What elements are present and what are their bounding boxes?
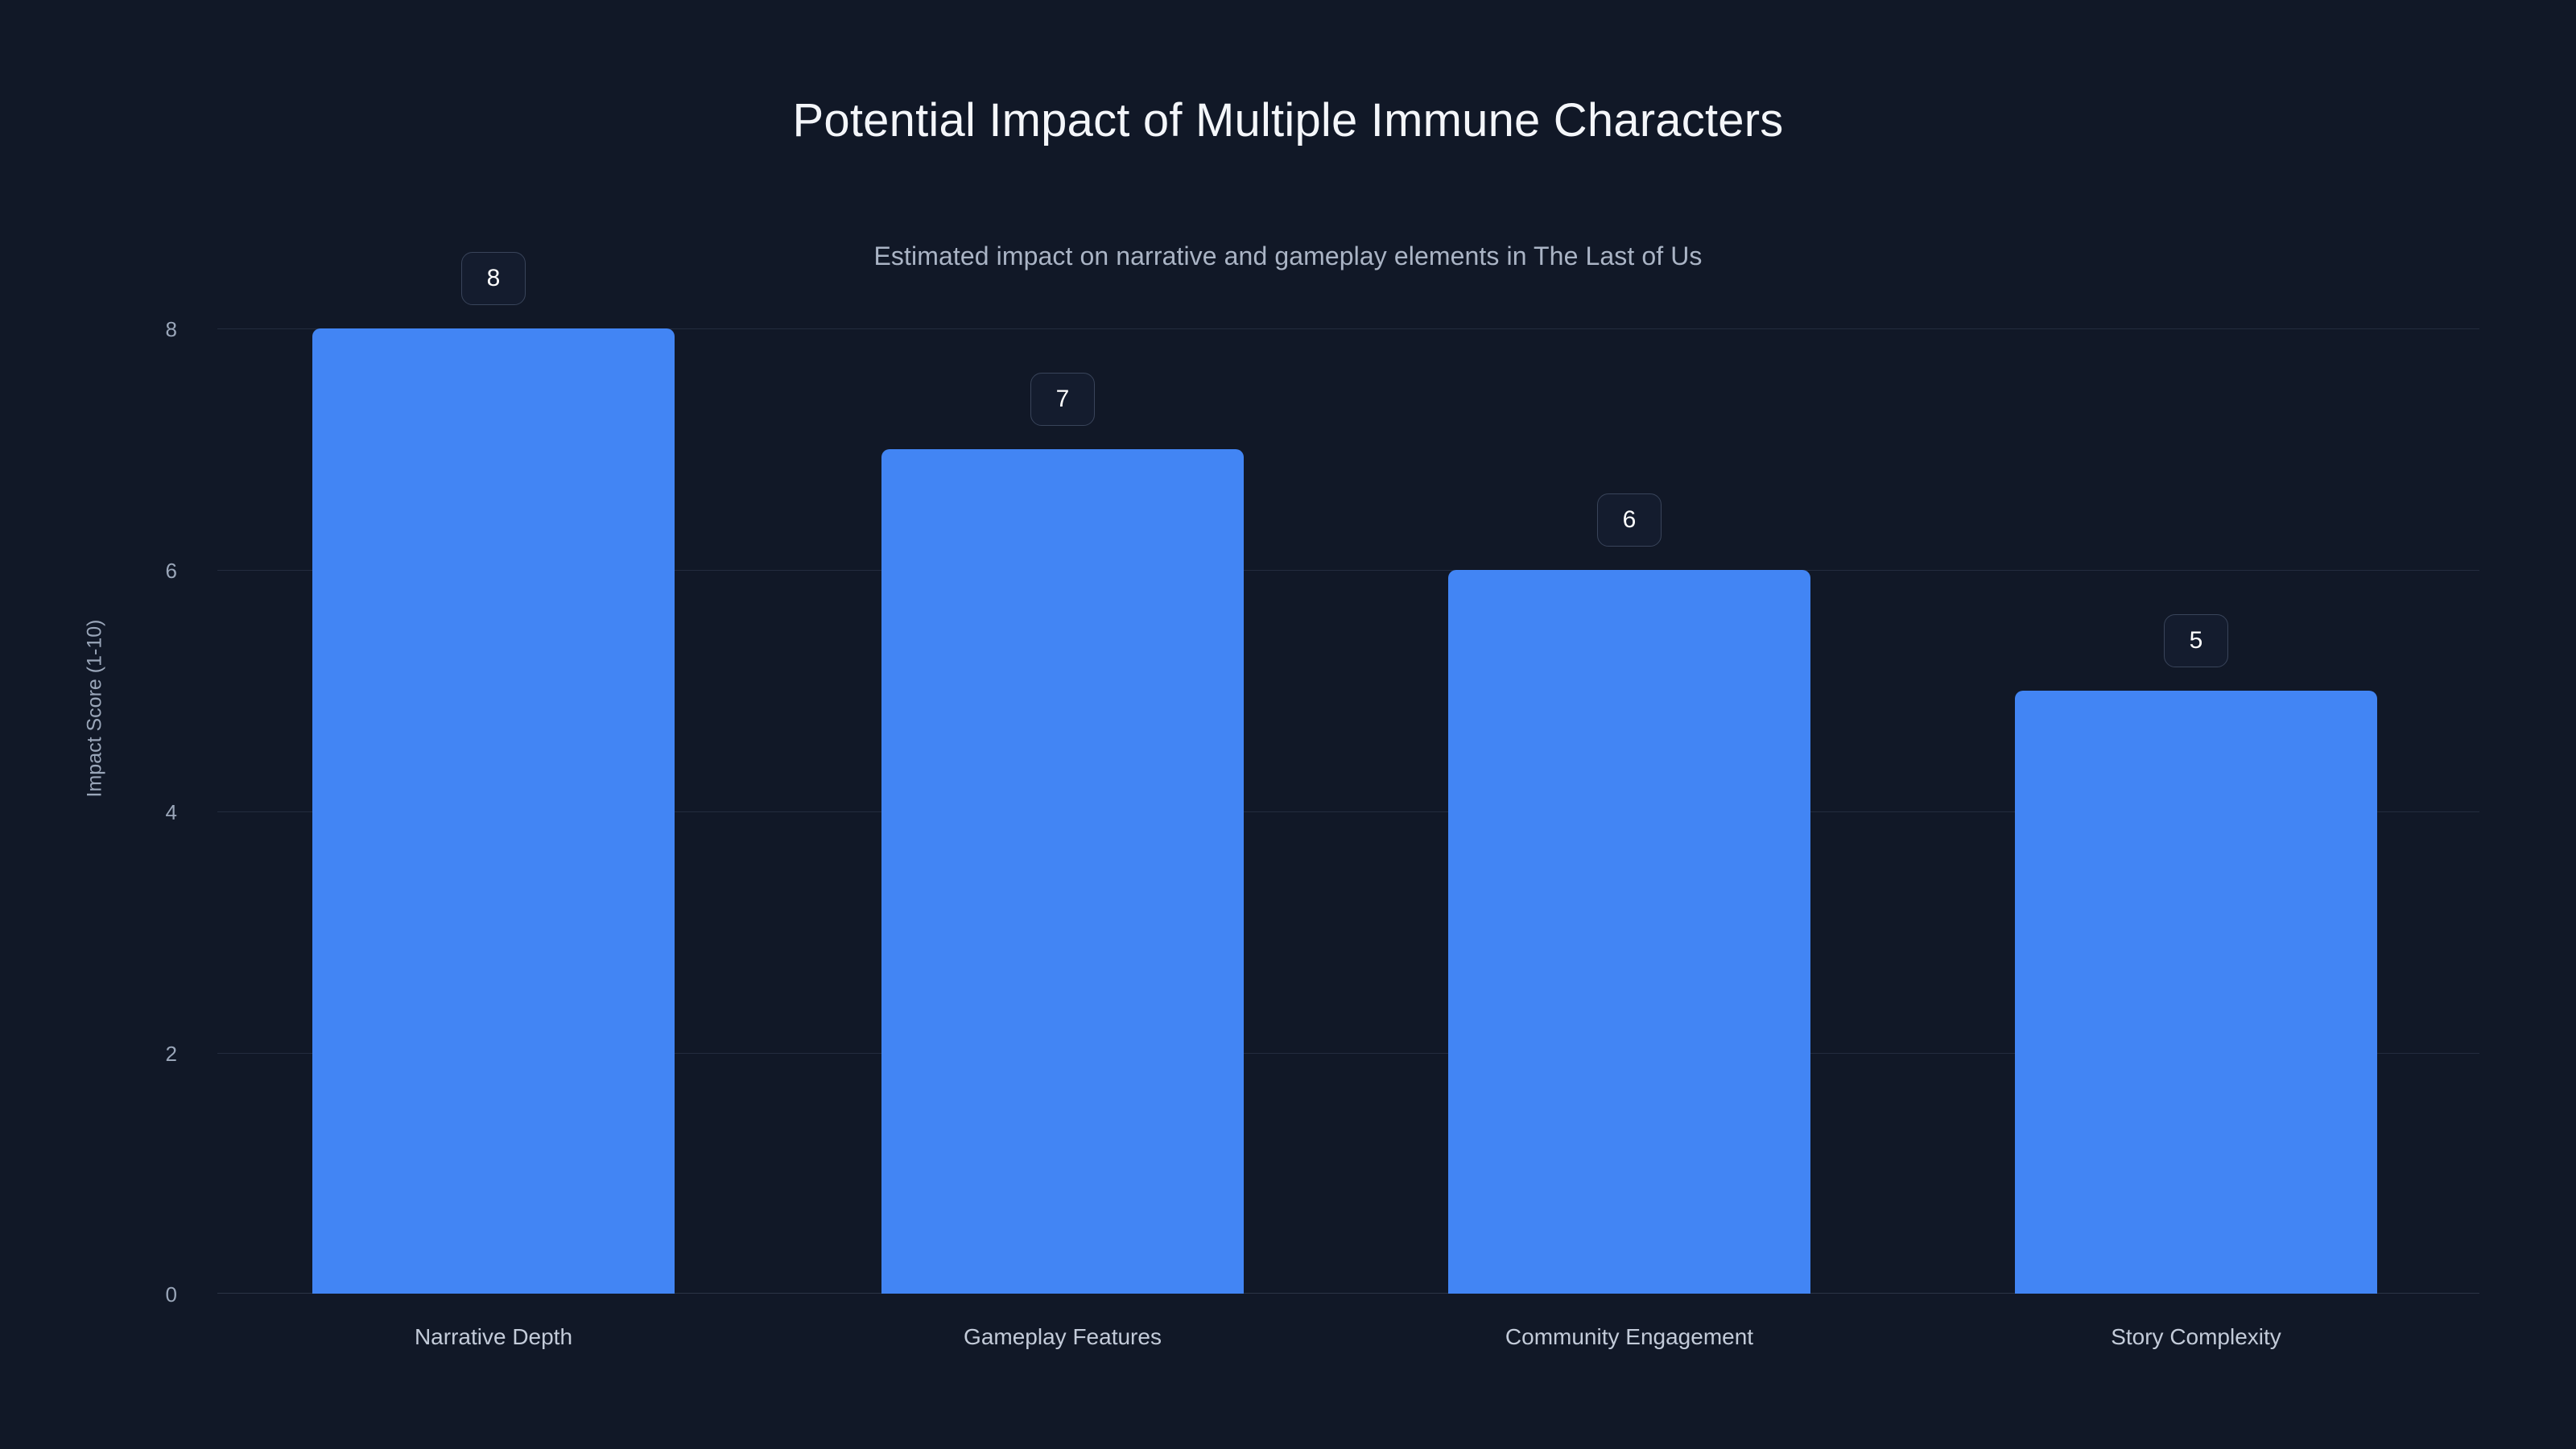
chart-subtitle: Estimated impact on narrative and gamepl… [0, 242, 2576, 271]
value-badge-text: 5 [2190, 627, 2203, 654]
value-badge-text: 7 [1056, 386, 1070, 413]
y-tick-label-4: 4 [129, 800, 177, 825]
value-badge-narrative-depth: 8 [461, 252, 526, 305]
x-tick-label-narrative-depth: Narrative Depth [415, 1324, 572, 1350]
x-tick-label-community-engagement: Community Engagement [1505, 1324, 1753, 1350]
value-badge-text: 6 [1623, 506, 1637, 534]
gridline-2 [217, 1053, 2479, 1054]
value-badge-story-complexity: 5 [2164, 614, 2228, 667]
y-tick-label-0: 0 [129, 1282, 177, 1307]
gridline-4 [217, 811, 2479, 812]
gridline-0 [217, 1293, 2479, 1294]
value-badge-community-engagement: 6 [1597, 493, 1662, 547]
x-tick-label-story-complexity: Story Complexity [2111, 1324, 2281, 1350]
plot-area [217, 328, 2479, 1294]
x-tick-label-gameplay-features: Gameplay Features [964, 1324, 1162, 1350]
value-badge-gameplay-features: 7 [1030, 373, 1095, 426]
gridline-8 [217, 328, 2479, 329]
chart-title: Potential Impact of Multiple Immune Char… [0, 95, 2576, 147]
y-tick-label-8: 8 [129, 317, 177, 342]
y-tick-label-2: 2 [129, 1042, 177, 1067]
value-badge-text: 8 [487, 265, 501, 292]
y-axis-title: Impact Score (1-10) [84, 620, 107, 798]
gridline-6 [217, 570, 2479, 571]
y-tick-label-6: 6 [129, 559, 177, 584]
